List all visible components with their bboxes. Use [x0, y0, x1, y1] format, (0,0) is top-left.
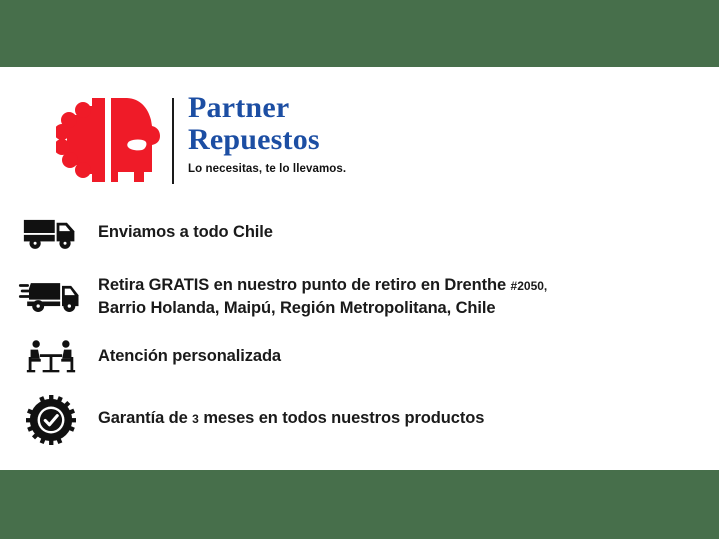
- logo-wordmark: Partner Repuestos Lo necesitas, te lo ll…: [188, 92, 478, 175]
- brand-name-line-1: Partner: [188, 92, 478, 124]
- feature-text: Atención personalizada: [86, 333, 281, 367]
- brand-tagline: Lo necesitas, te lo llevamos.: [188, 163, 478, 175]
- feature-row: Enviamos a todo Chile: [16, 210, 273, 256]
- promo-banner: Partner Repuestos Lo necesitas, te lo ll…: [0, 0, 719, 539]
- feature-text: Enviamos a todo Chile: [86, 210, 273, 243]
- guarantee-months: 3: [192, 412, 199, 426]
- delivery-truck-icon: [16, 210, 86, 256]
- gear-car-logo-icon: [56, 94, 162, 186]
- bottom-green-band: [0, 470, 719, 539]
- feature-row: Garantía de 3 meses en todos nuestros pr…: [16, 394, 484, 446]
- guarantee-badge-icon: [16, 394, 86, 446]
- feature-text-line-2: Barrio Holanda, Maipú, Región Metropolit…: [98, 297, 547, 319]
- address-number: #2050,: [511, 279, 548, 293]
- logo-divider: [172, 98, 174, 184]
- feature-text: Retira GRATIS en nuestro punto de retiro…: [86, 271, 547, 319]
- guarantee-text-prefix: Garantía de: [98, 409, 192, 427]
- brand-name-line-2: Repuestos: [188, 124, 478, 156]
- guarantee-text-suffix: meses en todos nuestros productos: [199, 409, 484, 427]
- feature-row: Atención personalizada: [16, 333, 281, 381]
- feature-text: Garantía de 3 meses en todos nuestros pr…: [86, 394, 484, 430]
- meeting-table-icon: [16, 333, 86, 381]
- top-green-band: [0, 0, 719, 67]
- feature-row: Retira GRATIS en nuestro punto de retiro…: [16, 271, 547, 321]
- feature-text-line-1: Retira GRATIS en nuestro punto de retiro…: [98, 276, 511, 294]
- logo-block: Partner Repuestos Lo necesitas, te lo ll…: [56, 92, 476, 192]
- moving-truck-icon: [16, 271, 86, 321]
